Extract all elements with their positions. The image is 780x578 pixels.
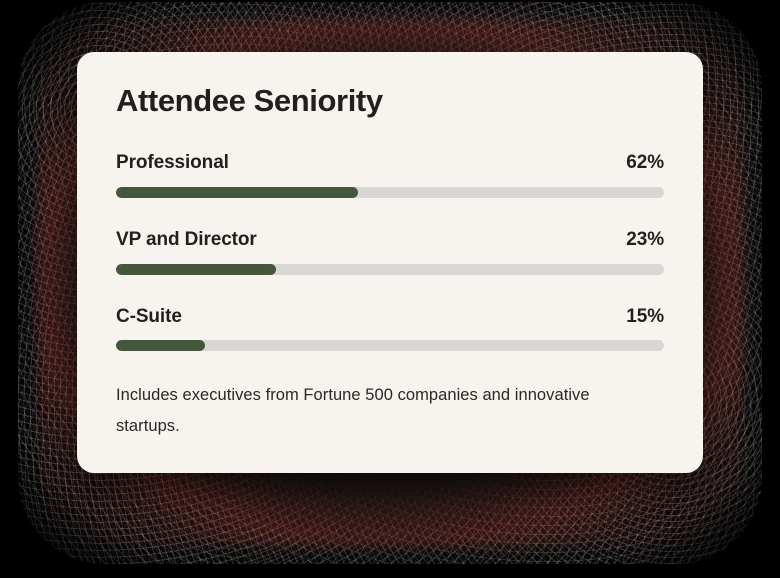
screenshot-stage: Attendee Seniority Professional 62% VP a… xyxy=(0,0,780,578)
list-item: Professional 62% xyxy=(116,151,664,198)
metric-label: VP and Director xyxy=(116,228,257,252)
metric-header: C-Suite 15% xyxy=(116,305,664,329)
progress-bar-fill xyxy=(116,264,276,275)
metric-percentage: 23% xyxy=(626,228,664,252)
progress-bar-track xyxy=(116,264,664,275)
metric-percentage: 62% xyxy=(626,151,664,175)
list-item: VP and Director 23% xyxy=(116,228,664,275)
metric-header: Professional 62% xyxy=(116,151,664,175)
card-footnote: Includes executives from Fortune 500 com… xyxy=(116,380,616,441)
progress-bar-fill xyxy=(116,340,205,351)
card-content: Attendee Seniority Professional 62% VP a… xyxy=(116,52,664,473)
attendee-seniority-card: Attendee Seniority Professional 62% VP a… xyxy=(77,52,703,473)
progress-bar-track xyxy=(116,340,664,351)
metric-header: VP and Director 23% xyxy=(116,228,664,252)
metric-percentage: 15% xyxy=(626,305,664,329)
list-item: C-Suite 15% xyxy=(116,305,664,352)
page-title: Attendee Seniority xyxy=(116,82,383,119)
progress-bar-track xyxy=(116,187,664,198)
progress-bar-fill xyxy=(116,187,358,198)
metric-label: Professional xyxy=(116,151,229,175)
metric-label: C-Suite xyxy=(116,305,182,329)
seniority-bar-list: Professional 62% VP and Director 23% xyxy=(116,151,664,351)
